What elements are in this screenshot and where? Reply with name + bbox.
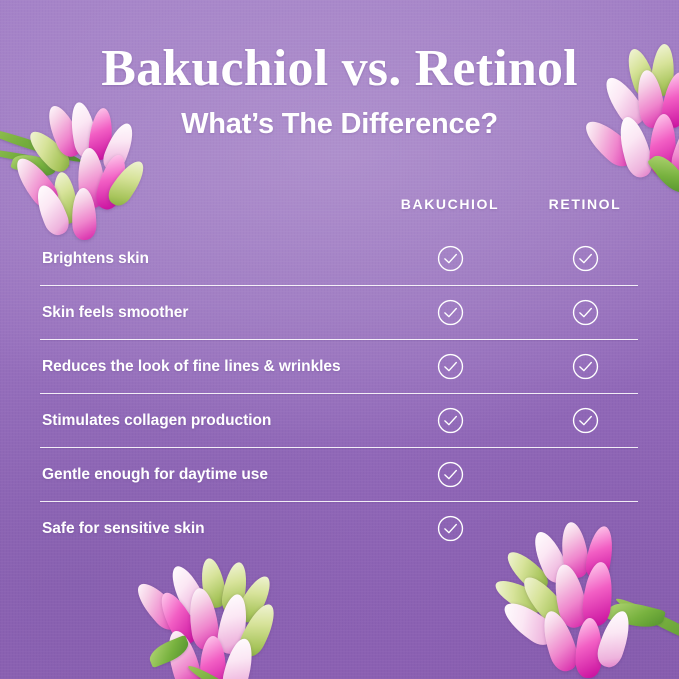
row-label: Brightens skin (42, 232, 149, 285)
table-row: Gentle enough for daytime use (40, 448, 638, 501)
table-row: Safe for sensitive skin (40, 502, 638, 555)
flower-bud (165, 561, 210, 620)
row-label: Gentle enough for daytime use (42, 448, 268, 501)
row-label: Reduces the look of fine lines & wrinkle… (42, 340, 341, 393)
row-label: Safe for sensitive skin (42, 502, 205, 555)
table-row: Skin feels smoother (40, 286, 638, 339)
flower-bud (575, 618, 603, 679)
cell-retinol (505, 286, 665, 339)
check-circle-icon (436, 298, 465, 327)
flower-bud (498, 595, 560, 650)
table-body: Brightens skinSkin feels smootherReduces… (40, 232, 638, 555)
flower-bud (220, 636, 258, 679)
flower-bud (581, 561, 616, 628)
check-circle-icon (436, 244, 465, 273)
check-circle-icon (571, 298, 600, 327)
infographic-canvas: Bakuchiol vs. Retinol What’s The Differe… (0, 0, 679, 679)
check-circle-icon (571, 406, 600, 435)
cell-retinol (505, 448, 665, 501)
flower-bud (186, 586, 221, 651)
row-label: Skin feels smoother (42, 286, 188, 339)
check-circle-icon (436, 514, 465, 543)
table-row: Brightens skin (40, 232, 638, 285)
flower-leaf (146, 635, 192, 668)
flower-bud (130, 577, 186, 635)
column-header-retinol: RETINOL (505, 196, 665, 212)
check-circle-icon (436, 460, 465, 489)
flower-bud (594, 608, 636, 671)
table-row: Stimulates collagen production (40, 394, 638, 447)
flower-bud (162, 627, 204, 679)
flower-bud (537, 607, 582, 674)
flower-leaf (606, 598, 666, 633)
flower-bud (154, 588, 201, 649)
cell-retinol (505, 394, 665, 447)
page-subtitle: What’s The Difference? (0, 108, 679, 141)
check-circle-icon (571, 244, 600, 273)
flower-stem (614, 594, 679, 656)
cell-retinol (505, 502, 665, 555)
flower-bud (235, 600, 281, 661)
flower-bud (234, 572, 277, 626)
check-circle-icon (571, 352, 600, 381)
flower-leaf (647, 150, 679, 199)
flower-bud (200, 636, 226, 679)
flower-bud (220, 560, 251, 615)
flower-bud (215, 592, 251, 656)
table-column-headers: BAKUCHIOL RETINOL (40, 196, 638, 232)
flower-stem (186, 663, 246, 679)
table-row: Reduces the look of fine lines & wrinkle… (40, 340, 638, 393)
flower-bud (550, 562, 591, 630)
comparison-table: BAKUCHIOL RETINOL Brightens skinSkin fee… (40, 196, 638, 555)
flower-bud (198, 556, 228, 609)
flower-stem (0, 146, 70, 170)
row-label: Stimulates collagen production (42, 394, 271, 447)
check-circle-icon (436, 406, 465, 435)
flower-bud (491, 574, 547, 618)
check-circle-icon (436, 352, 465, 381)
cell-retinol (505, 340, 665, 393)
flower-leaf (10, 150, 58, 182)
flower-bud (517, 571, 571, 629)
page-title: Bakuchiol vs. Retinol (0, 42, 679, 96)
flower-bottom-center (126, 556, 306, 679)
cell-retinol (505, 232, 665, 285)
